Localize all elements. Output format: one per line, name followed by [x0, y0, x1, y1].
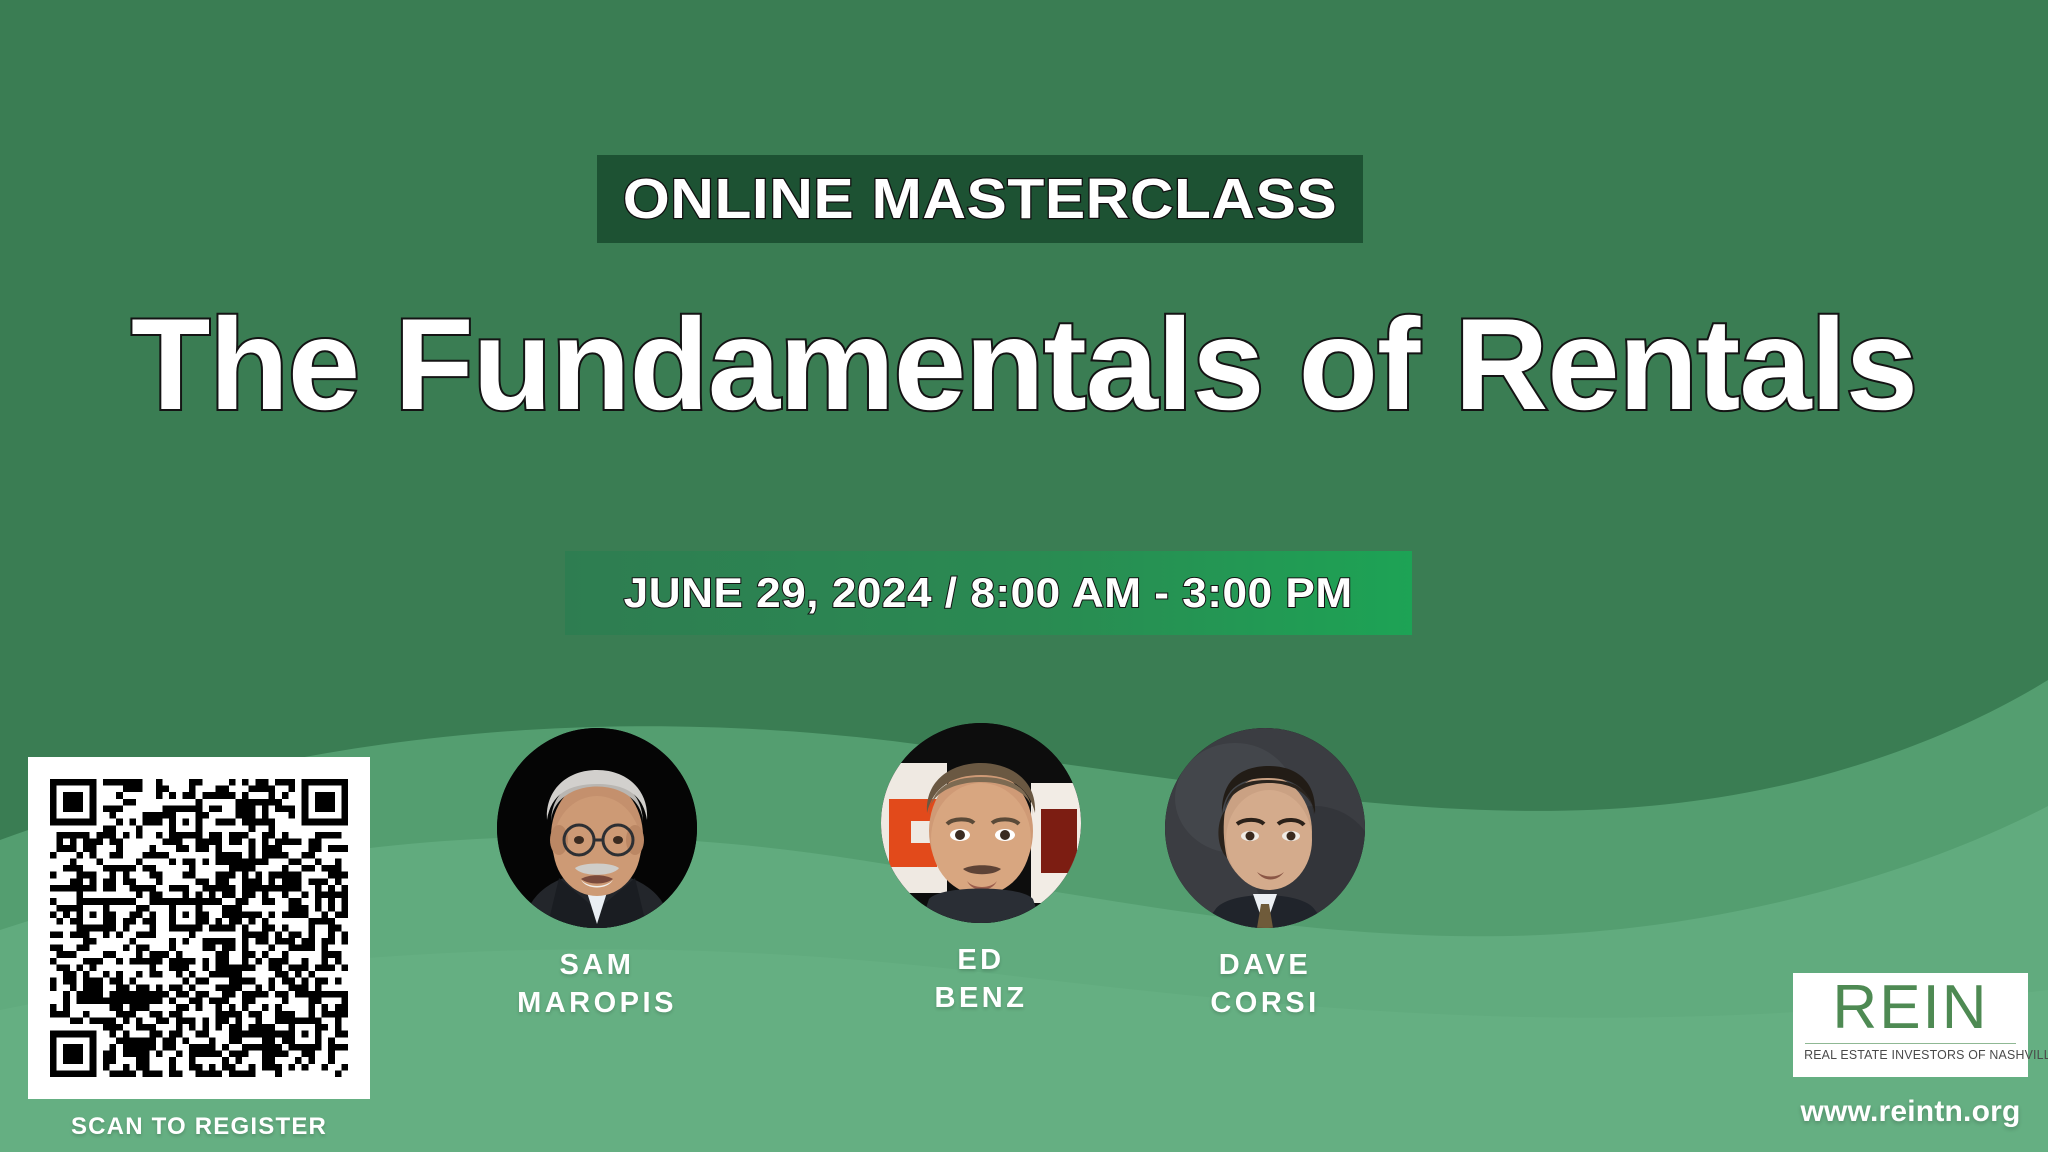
- rein-wordmark: REIN: [1803, 979, 2018, 1038]
- event-poster: ONLINE MASTERCLASS The Fundamentals of R…: [0, 0, 2048, 1152]
- speaker-card-ed-benz: ED BENZ: [881, 723, 1081, 1018]
- masterclass-badge-label: ONLINE MASTERCLASS: [623, 171, 1337, 228]
- qr-code-card[interactable]: [28, 757, 370, 1099]
- speaker-name: DAVE CORSI: [1165, 946, 1365, 1023]
- speaker-name: SAM MAROPIS: [497, 946, 697, 1023]
- qr-caption: SCAN TO REGISTER: [28, 1113, 370, 1141]
- rein-logo[interactable]: REIN REAL ESTATE INVESTORS OF NASHVILLE: [1793, 973, 2028, 1077]
- portrait-sam-maropis: [497, 728, 697, 928]
- avatar: [497, 728, 697, 928]
- page-title: The Fundamentals of Rentals: [0, 296, 2048, 433]
- speaker-card-sam-maropis: SAM MAROPIS: [497, 728, 697, 1023]
- avatar: [881, 723, 1081, 923]
- qr-register-block[interactable]: SCAN TO REGISTER: [28, 757, 370, 1141]
- rein-tagline: REAL ESTATE INVESTORS OF NASHVILLE: [1804, 1048, 2017, 1062]
- avatar: [1165, 728, 1365, 928]
- masterclass-badge: ONLINE MASTERCLASS: [597, 155, 1363, 243]
- portrait-dave-corsi: [1165, 728, 1365, 928]
- logo-divider: [1805, 1043, 2016, 1044]
- date-time-banner: JUNE 29, 2024 / 8:00 AM - 3:00 PM: [565, 551, 1412, 635]
- portrait-ed-benz: [881, 723, 1081, 923]
- speaker-name: ED BENZ: [881, 941, 1081, 1018]
- qr-code-icon[interactable]: [50, 779, 348, 1077]
- date-time-label: JUNE 29, 2024 / 8:00 AM - 3:00 PM: [624, 572, 1353, 614]
- speaker-card-dave-corsi: DAVE CORSI: [1165, 728, 1365, 1023]
- website-url[interactable]: www.reintn.org: [1793, 1095, 2028, 1129]
